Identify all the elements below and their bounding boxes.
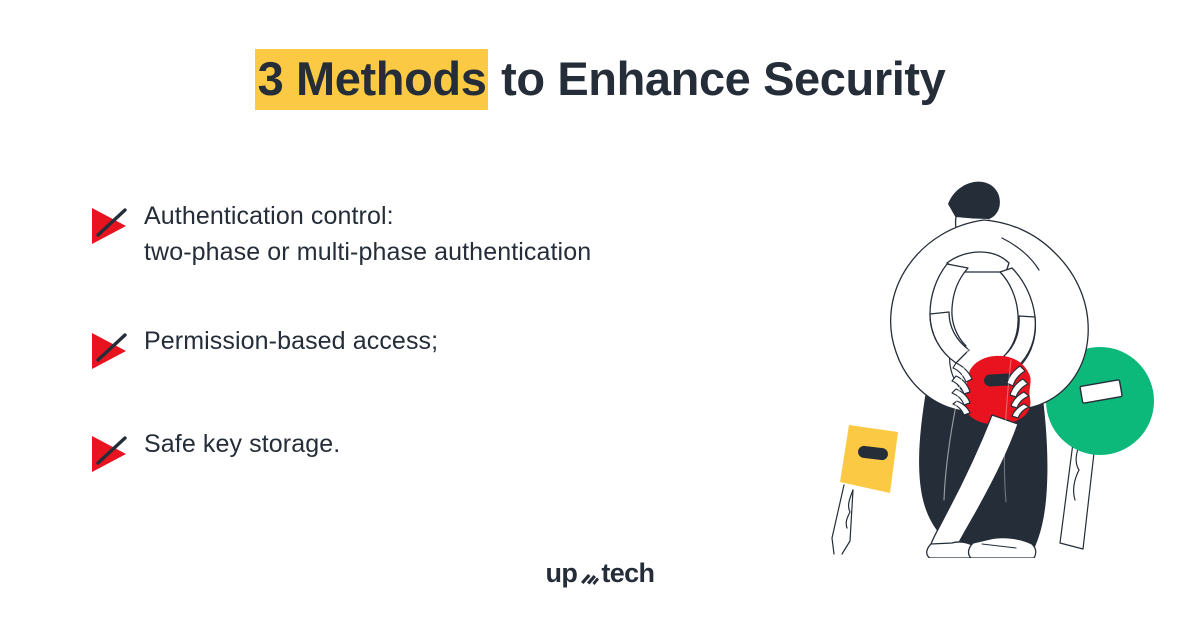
list-item-line2: two-phase or multi-phase authentication [144, 235, 591, 271]
red-triangle-check-icon [88, 327, 144, 373]
person-holding-key-illustration [806, 160, 1172, 558]
yellow-key [832, 425, 898, 554]
red-triangle-check-icon [88, 430, 144, 476]
list-item-line1: Safe key storage. [144, 430, 340, 458]
logo-text-tech: tech [601, 558, 654, 589]
brand-logo[interactable]: up tech [0, 558, 1200, 589]
page-title: 3 Methods to Enhance Security [0, 48, 1200, 110]
slash-mark-icon [578, 565, 600, 585]
methods-list: Authentication control: two-phase or mul… [88, 198, 828, 476]
red-triangle-check-icon [88, 202, 144, 248]
list-item-line1: Permission-based access; [144, 327, 438, 355]
logo-text-up: up [546, 558, 578, 589]
list-item: Safe key storage. [88, 426, 828, 476]
list-item: Authentication control: two-phase or mul… [88, 198, 828, 270]
list-item-line1: Authentication control: [144, 202, 394, 230]
list-item-text: Authentication control: two-phase or mul… [144, 198, 591, 270]
list-item-text: Permission-based access; [144, 323, 438, 360]
title-rest: to Enhance Security [488, 52, 945, 105]
title-highlight: 3 Methods [255, 49, 489, 110]
slide-canvas: 3 Methods to Enhance Security Authentica… [0, 0, 1200, 619]
list-item: Permission-based access; [88, 323, 828, 373]
list-item-text: Safe key storage. [144, 426, 340, 463]
